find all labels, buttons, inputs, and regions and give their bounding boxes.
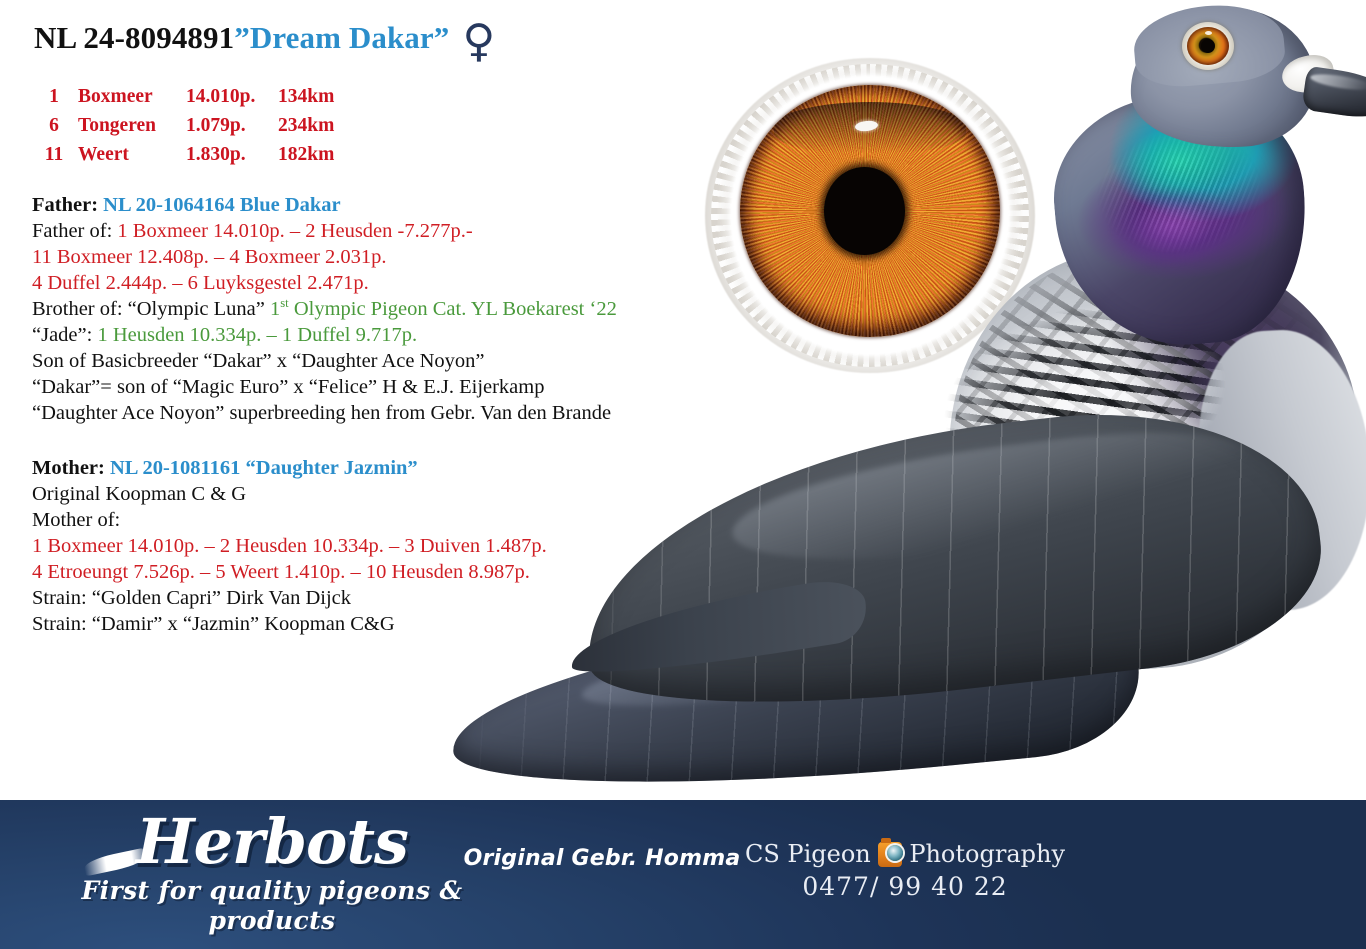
result-birds: 14.010p. — [186, 86, 278, 115]
ring-number: NL 24-8094891 — [34, 20, 234, 56]
table-row: 6 Tongeren 1.079p. 234km — [34, 115, 358, 144]
father-label: Father: — [32, 194, 98, 216]
result-distance: 182km — [278, 144, 358, 173]
brand-tagline: First for quality pigeons & products — [72, 876, 472, 936]
olympic-rank-suffix: st — [280, 296, 288, 310]
pedigree-card: NL 24-8094891 ”Dream Dakar” ♀ 1 Boxmeer … — [0, 0, 1366, 949]
pigeon-eye-pupil — [1201, 39, 1215, 53]
herbots-logo[interactable]: Herbots First for quality pigeons & prod… — [72, 810, 472, 936]
jade-results: 1 Heusden 10.334p. – 1 Duffel 9.717p. — [97, 324, 417, 346]
brother-of-label: Brother of: “Olympic Luna” — [32, 298, 265, 320]
father-of-label: Father of: — [32, 220, 112, 242]
result-distance: 234km — [278, 115, 358, 144]
father-of-results: 1 Boxmeer 14.010p. – 2 Heusden -7.277p.- — [117, 220, 472, 242]
pigeon-name: ”Dream Dakar” — [234, 20, 449, 56]
camera-icon — [878, 842, 903, 867]
race-results-table: 1 Boxmeer 14.010p. 134km 6 Tongeren 1.07… — [34, 86, 358, 173]
result-race: Boxmeer — [74, 86, 186, 115]
result-position: 11 — [34, 144, 74, 173]
result-position: 1 — [34, 86, 74, 115]
result-birds: 1.079p. — [186, 115, 278, 144]
result-race: Tongeren — [74, 115, 186, 144]
breeder-credit: Original Gebr. Homma — [452, 846, 752, 871]
pigeon-photo: NL 24 — [430, 0, 1366, 930]
result-birds: 1.830p. — [186, 144, 278, 173]
photographer-phone: 0477/ 99 40 22 — [745, 870, 1065, 904]
jade-label: “Jade”: — [32, 324, 92, 346]
page-title: NL 24-8094891 ”Dream Dakar” ♀ — [34, 20, 495, 56]
result-race: Weert — [74, 144, 186, 173]
photographer-name-post: Photography — [909, 838, 1065, 870]
mother-ring-number: NL 20-1081161 “Daughter Jazmin” — [110, 457, 418, 479]
photographer-name-pre: CS Pigeon — [745, 838, 871, 870]
mother-label: Mother: — [32, 457, 105, 479]
father-ring-number: NL 20-1064164 Blue Dakar — [103, 194, 340, 216]
photographer-credit: CS Pigeon Photography 0477/ 99 40 22 — [745, 838, 1065, 904]
result-position: 6 — [34, 115, 74, 144]
pigeon-eye-catchlight — [1205, 31, 1212, 35]
table-row: 1 Boxmeer 14.010p. 134km — [34, 86, 358, 115]
photographer-name-line: CS Pigeon Photography — [745, 838, 1065, 870]
footer-bar: Herbots First for quality pigeons & prod… — [0, 800, 1366, 949]
olympic-rank: 1 — [270, 298, 280, 320]
table-row: 11 Weert 1.830p. 182km — [34, 144, 358, 173]
result-distance: 134km — [278, 86, 358, 115]
